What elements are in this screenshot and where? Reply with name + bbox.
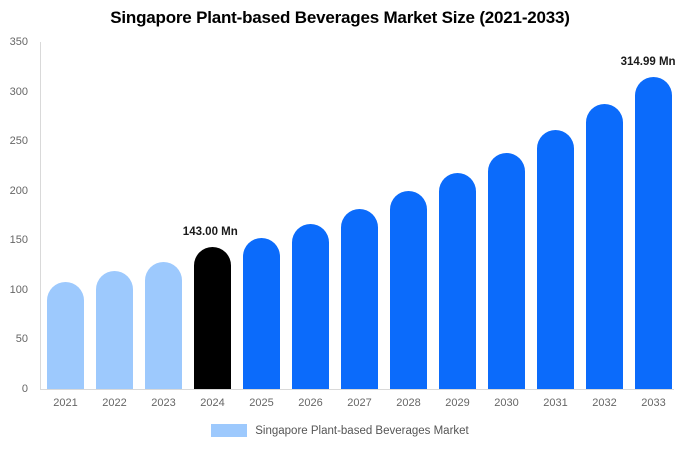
x-axis-tick-label: 2028: [384, 397, 433, 409]
bar-2028[interactable]: [390, 191, 427, 389]
x-axis-tick-label: 2021: [41, 397, 90, 409]
value-label-2033: 314.99 Mn: [621, 56, 676, 68]
bar-2022[interactable]: [96, 271, 133, 389]
bar-2026[interactable]: [292, 224, 329, 389]
bar-2025[interactable]: [243, 238, 280, 389]
legend-swatch-icon: [211, 424, 247, 437]
chart-title: Singapore Plant-based Beverages Market S…: [0, 8, 680, 28]
bar-2023[interactable]: [145, 262, 182, 389]
legend-item-label: Singapore Plant-based Beverages Market: [255, 425, 469, 437]
x-axis-tick-label: 2022: [90, 397, 139, 409]
y-axis-tick-label: 100: [0, 284, 28, 296]
y-axis-tick-label: 50: [0, 333, 28, 345]
plot-area: 050100150200250300350 202120222023202420…: [40, 42, 674, 389]
y-axis-line: [40, 42, 41, 389]
bar-2033[interactable]: [635, 77, 672, 389]
bar-chart: Singapore Plant-based Beverages Market S…: [0, 0, 680, 450]
x-axis-tick-label: 2023: [139, 397, 188, 409]
y-axis-tick-label: 250: [0, 135, 28, 147]
bar-2024[interactable]: [194, 247, 231, 389]
y-axis-tick-label: 150: [0, 234, 28, 246]
x-axis-tick-label: 2025: [237, 397, 286, 409]
x-axis-line: [40, 389, 674, 390]
bar-2030[interactable]: [488, 153, 525, 389]
bar-2029[interactable]: [439, 173, 476, 389]
x-axis-tick-label: 2030: [482, 397, 531, 409]
bar-2032[interactable]: [586, 104, 623, 389]
bar-2027[interactable]: [341, 209, 378, 389]
y-axis-tick-label: 200: [0, 185, 28, 197]
x-axis-tick-label: 2033: [629, 397, 678, 409]
x-axis-tick-label: 2031: [531, 397, 580, 409]
y-axis-tick-label: 300: [0, 86, 28, 98]
chart-legend: Singapore Plant-based Beverages Market: [0, 424, 680, 437]
y-axis-tick-label: 0: [0, 383, 28, 395]
y-axis-tick-label: 350: [0, 36, 28, 48]
x-axis-tick-label: 2027: [335, 397, 384, 409]
legend-item[interactable]: Singapore Plant-based Beverages Market: [211, 424, 469, 437]
x-axis-tick-label: 2026: [286, 397, 335, 409]
x-axis-tick-label: 2032: [580, 397, 629, 409]
x-axis-tick-label: 2024: [188, 397, 237, 409]
bar-2021[interactable]: [47, 282, 84, 389]
x-axis-tick-label: 2029: [433, 397, 482, 409]
bar-2031[interactable]: [537, 130, 574, 389]
value-label-2024: 143.00 Mn: [183, 226, 238, 238]
